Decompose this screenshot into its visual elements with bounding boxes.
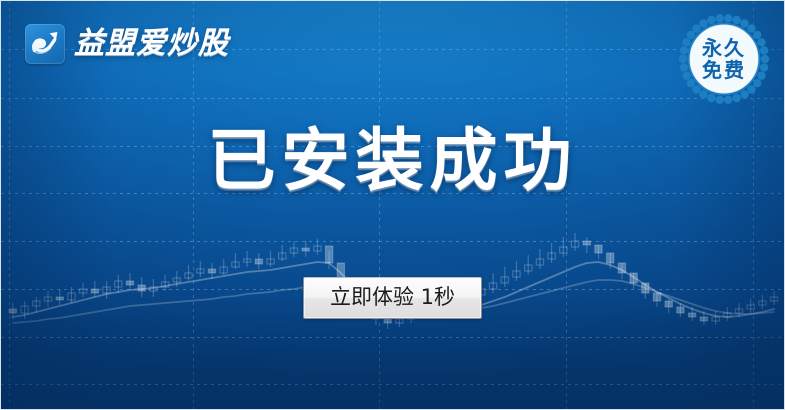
experience-now-button[interactable]: 立即体验 1秒 [303,277,482,319]
installation-success-banner: 益盟爱炒股 永久 免费 已安装成功 立即体验 1秒 [0,0,785,410]
scalloped-seal-icon [678,13,770,105]
permanently-free-badge: 永久 免费 [678,13,770,105]
page-title: 已安装成功 [1,128,784,196]
brand-logo[interactable]: 益盟爱炒股 [25,24,229,64]
arrow-e-logo-icon [25,24,65,64]
brand-name: 益盟爱炒股 [74,29,229,59]
cta-container: 立即体验 1秒 [1,277,784,319]
